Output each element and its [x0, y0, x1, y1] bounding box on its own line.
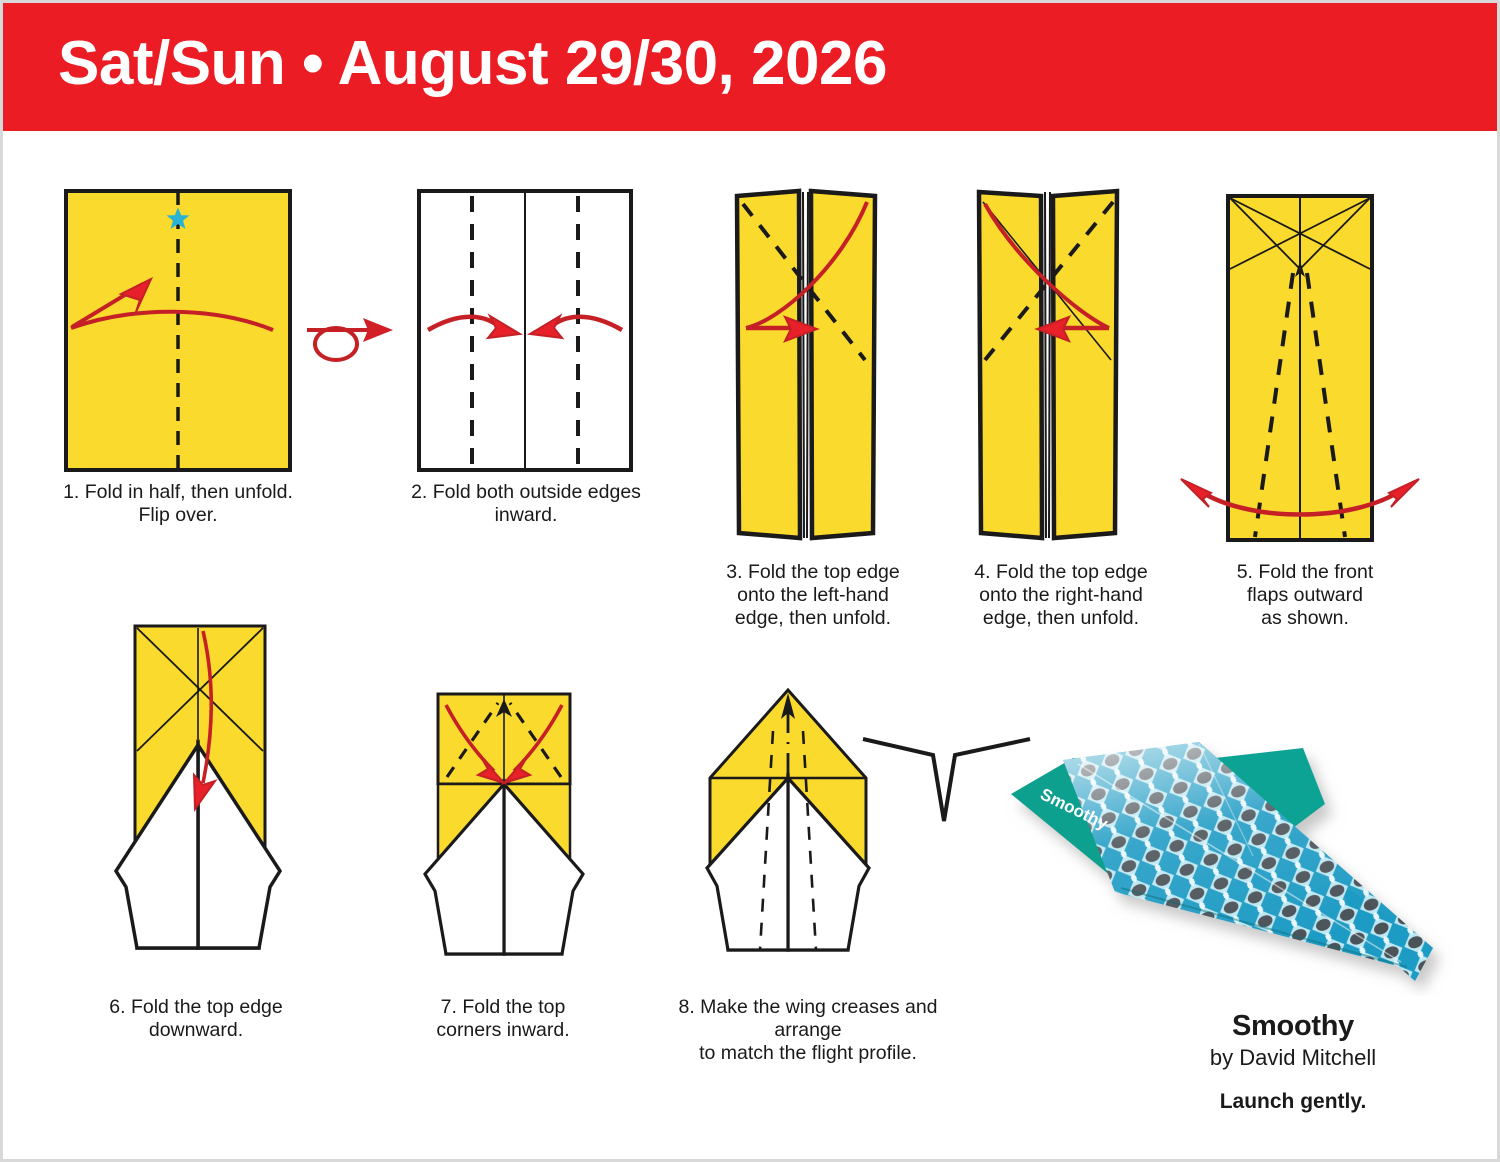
- step-2-caption: 2. Fold both outside edges inward.: [381, 481, 671, 527]
- step-3-diagram: [733, 188, 881, 543]
- flip-over-loop-arrow-icon: [305, 308, 405, 368]
- step-6-caption: 6. Fold the top edge downward.: [61, 996, 331, 1042]
- step-1-caption: 1. Fold in half, then unfold. Flip over.: [33, 481, 323, 527]
- step-3-caption: 3. Fold the top edge onto the left-hand …: [703, 561, 923, 630]
- finished-model-photo: Smoothy: [1003, 736, 1473, 996]
- step-4-caption: 4. Fold the top edge onto the right-hand…: [951, 561, 1171, 630]
- step-4-diagram: [975, 188, 1123, 543]
- launch-hint: Launch gently.: [1143, 1090, 1443, 1114]
- calendar-page: Sat/Sun • August 29/30, 2026 1. Fold in …: [0, 0, 1500, 1162]
- page-title: Sat/Sun • August 29/30, 2026: [58, 33, 887, 95]
- date-header-banner: Sat/Sun • August 29/30, 2026: [3, 3, 1500, 131]
- step-7-diagram: [368, 691, 638, 976]
- step-6-diagram: [63, 623, 333, 973]
- step-5-caption: 5. Fold the front flaps outward as shown…: [1205, 561, 1405, 630]
- step-2-diagram: [416, 188, 634, 473]
- model-name: Smoothy: [1143, 1010, 1443, 1043]
- step-8-caption: 8. Make the wing creases and arrange to …: [643, 996, 973, 1065]
- step-5-diagram: [1225, 193, 1375, 543]
- step-7-caption: 7. Fold the top corners inward.: [378, 996, 628, 1042]
- model-author: by David Mitchell: [1143, 1045, 1443, 1071]
- step-1-diagram: [63, 188, 293, 473]
